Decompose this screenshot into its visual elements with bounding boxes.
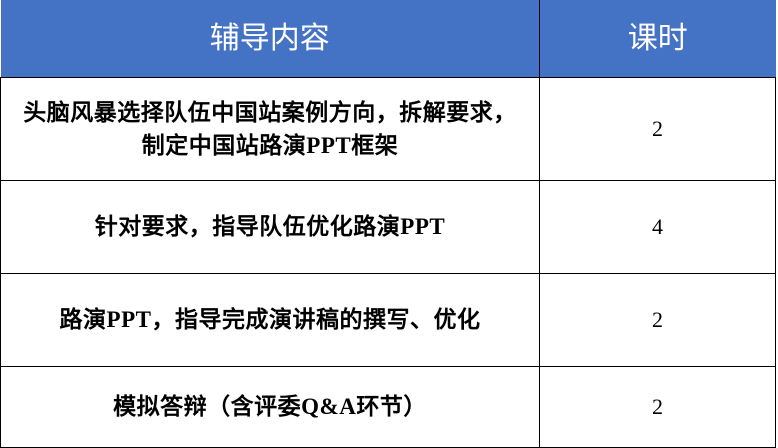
cell-hours: 2	[540, 367, 776, 448]
cell-content: 针对要求，指导队伍优化路演PPT	[1, 181, 540, 274]
cell-content: 头脑风暴选择队伍中国站案例方向，拆解要求，制定中国站路演PPT框架	[1, 78, 540, 181]
table-row: 头脑风暴选择队伍中国站案例方向，拆解要求，制定中国站路演PPT框架 2	[1, 78, 776, 181]
cell-content: 路演PPT，指导完成演讲稿的撰写、优化	[1, 274, 540, 367]
cell-hours: 2	[540, 78, 776, 181]
table-row: 针对要求，指导队伍优化路演PPT 4	[1, 181, 776, 274]
table-header: 辅导内容 课时	[1, 0, 776, 78]
column-header-content: 辅导内容	[1, 0, 540, 78]
table-body: 头脑风暴选择队伍中国站案例方向，拆解要求，制定中国站路演PPT框架 2 针对要求…	[1, 78, 776, 448]
table-row: 模拟答辩（含评委Q&A环节） 2	[1, 367, 776, 448]
column-header-hours: 课时	[540, 0, 776, 78]
cell-hours: 2	[540, 274, 776, 367]
table-row: 路演PPT，指导完成演讲稿的撰写、优化 2	[1, 274, 776, 367]
cell-hours: 4	[540, 181, 776, 274]
schedule-table-container: 辅导内容 课时 头脑风暴选择队伍中国站案例方向，拆解要求，制定中国站路演PPT框…	[0, 0, 778, 421]
table-header-row: 辅导内容 课时	[1, 0, 776, 78]
coaching-schedule-table: 辅导内容 课时 头脑风暴选择队伍中国站案例方向，拆解要求，制定中国站路演PPT框…	[0, 0, 776, 448]
cell-content: 模拟答辩（含评委Q&A环节）	[1, 367, 540, 448]
